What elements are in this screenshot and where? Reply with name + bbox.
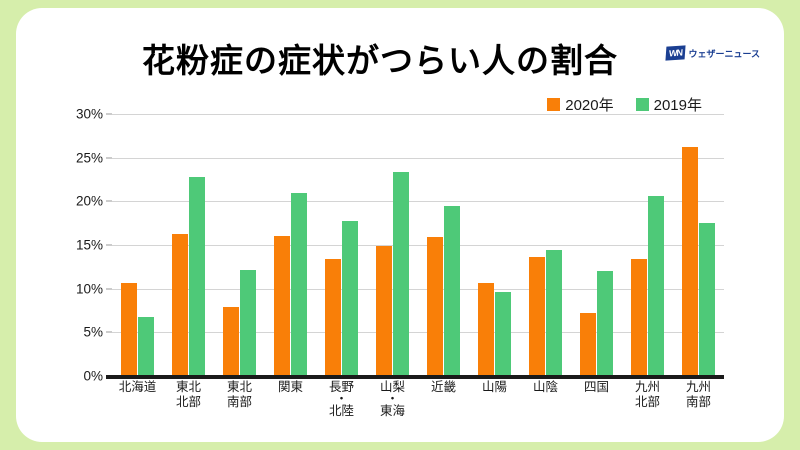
bar-2020年-北海道 xyxy=(121,283,137,376)
bar-2020年-四国 xyxy=(580,313,596,376)
legend-item-2020年: 2020年 xyxy=(547,94,613,115)
bar-group xyxy=(469,114,520,376)
wn-logo-icon: WN xyxy=(666,45,686,60)
bar-2020年-山陰 xyxy=(529,257,545,376)
x-axis-label-九州北部: 九州北部 xyxy=(622,380,673,419)
bar-2019年-関東 xyxy=(291,193,307,376)
bar-group xyxy=(316,114,367,376)
bar-group xyxy=(214,114,265,376)
bar-group xyxy=(622,114,673,376)
bar-2020年-山陽 xyxy=(478,283,494,376)
x-axis-label-長野・北陸: 長野・北陸 xyxy=(316,380,367,419)
plot-area: 0%5%10%15%20%25%30% xyxy=(112,114,724,376)
bar-group xyxy=(163,114,214,376)
x-axis-label-山陽: 山陽 xyxy=(469,380,520,419)
x-axis-label-近畿: 近畿 xyxy=(418,380,469,419)
y-axis-tick-label: 10% xyxy=(76,281,103,296)
x-axis-label-東北北部: 東北北部 xyxy=(163,380,214,419)
bar-2019年-四国 xyxy=(597,271,613,376)
legend-label: 2019年 xyxy=(654,94,702,115)
bar-2019年-山陰 xyxy=(546,250,562,376)
bar-2019年-東北南部 xyxy=(240,270,256,376)
legend-item-2019年: 2019年 xyxy=(636,94,702,115)
bar-2020年-東北北部 xyxy=(172,234,188,376)
bar-2020年-九州北部 xyxy=(631,259,647,376)
y-axis-tick-label: 0% xyxy=(83,369,103,384)
bar-2019年-九州北部 xyxy=(648,196,664,376)
bar-2019年-近畿 xyxy=(444,206,460,376)
y-axis-tick-label: 30% xyxy=(76,107,103,122)
x-axis-line xyxy=(106,375,724,379)
y-axis-tick-label: 5% xyxy=(83,325,103,340)
x-axis-label-四国: 四国 xyxy=(571,380,622,419)
bar-2020年-長野・北陸 xyxy=(325,259,341,376)
x-axis-label-山梨・東海: 山梨・東海 xyxy=(367,380,418,419)
bar-2020年-東北南部 xyxy=(223,307,239,376)
bar-2019年-九州南部 xyxy=(699,223,715,376)
bar-group xyxy=(367,114,418,376)
bar-2019年-東北北部 xyxy=(189,177,205,376)
bar-2019年-山陽 xyxy=(495,292,511,376)
y-axis-tick-label: 25% xyxy=(76,150,103,165)
bar-group xyxy=(520,114,571,376)
x-axis-labels: 北海道東北北部東北南部関東長野・北陸山梨・東海近畿山陽山陰四国九州北部九州南部 xyxy=(112,380,724,419)
chart-legend: 2020年2019年 xyxy=(547,94,702,115)
bar-groups xyxy=(112,114,724,376)
x-axis-label-九州南部: 九州南部 xyxy=(673,380,724,419)
x-axis-label-東北南部: 東北南部 xyxy=(214,380,265,419)
bar-2020年-山梨・東海 xyxy=(376,246,392,376)
bar-2019年-山梨・東海 xyxy=(393,172,409,376)
logo-label: ウェザーニュース xyxy=(688,47,760,60)
legend-swatch-icon xyxy=(636,98,649,111)
bar-group xyxy=(571,114,622,376)
weathernews-logo: WN ウェザーニュース xyxy=(666,46,760,60)
bar-2020年-九州南部 xyxy=(682,147,698,376)
bar-2019年-長野・北陸 xyxy=(342,221,358,376)
y-axis-tick-label: 15% xyxy=(76,238,103,253)
legend-label: 2020年 xyxy=(565,94,613,115)
bar-2020年-近畿 xyxy=(427,237,443,376)
x-axis-label-関東: 関東 xyxy=(265,380,316,419)
y-axis-tick-label: 20% xyxy=(76,194,103,209)
chart-card: 花粉症の症状がつらい人の割合 WN ウェザーニュース 2020年2019年 0%… xyxy=(16,8,784,442)
bar-group xyxy=(265,114,316,376)
bar-group xyxy=(112,114,163,376)
bar-group xyxy=(418,114,469,376)
bar-2019年-北海道 xyxy=(138,317,154,376)
bar-2020年-関東 xyxy=(274,236,290,376)
legend-swatch-icon xyxy=(547,98,560,111)
x-axis-label-山陰: 山陰 xyxy=(520,380,571,419)
x-axis-label-北海道: 北海道 xyxy=(112,380,163,419)
bar-group xyxy=(673,114,724,376)
